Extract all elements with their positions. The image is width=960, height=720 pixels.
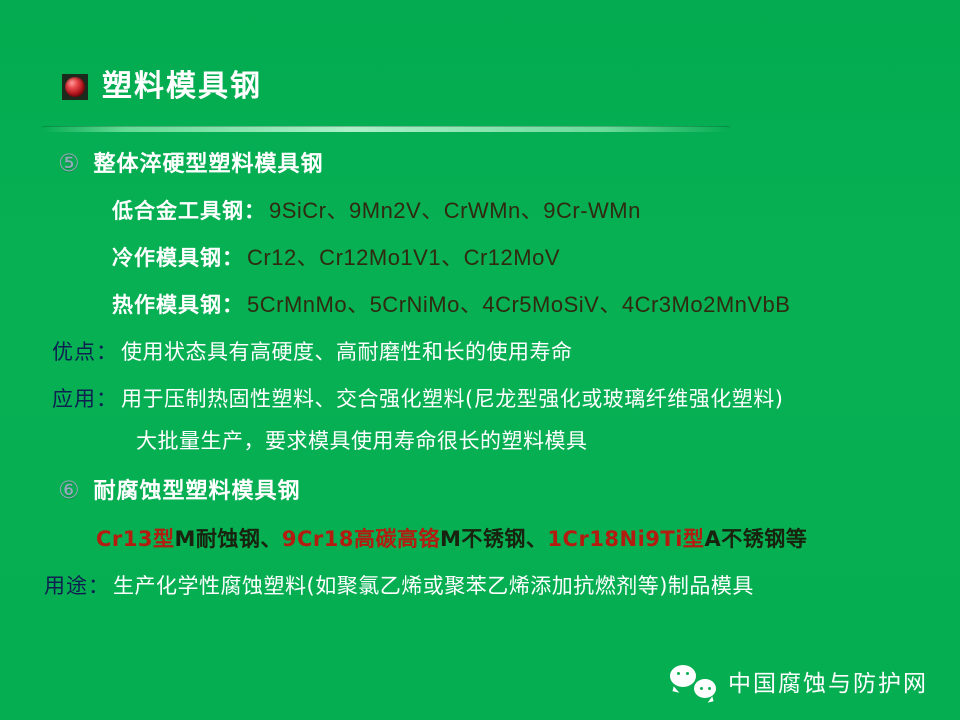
category-colon: ： bbox=[244, 195, 265, 225]
note-row-application-continued: 大批量生产，要求模具使用寿命很长的塑料模具 bbox=[132, 425, 960, 455]
category-colon: ： bbox=[222, 289, 243, 319]
title-divider bbox=[42, 126, 730, 132]
category-grades: 9SiCr、9Mn2V、CrWMn、9Cr-WMn bbox=[269, 193, 641, 225]
wechat-icon bbox=[670, 664, 716, 698]
note-label: 优点 bbox=[52, 336, 96, 366]
category-grades: 5CrMnMo、5CrNiMo、4Cr5MoSiV、4Cr3Mo2MnVbB bbox=[247, 287, 790, 319]
category-grades: Cr12、Cr12Mo1V1、Cr12MoV bbox=[247, 240, 560, 272]
section-heading-5: ⑤ 整体淬硬型塑料模具钢 bbox=[58, 146, 960, 178]
emphasis-steel-grades-line: Cr13型 M耐蚀钢、 9Cr18高碳高铬 M不锈钢、 1Cr18Ni9Ti型 … bbox=[96, 523, 960, 553]
category-label: 冷作模具钢 bbox=[112, 242, 222, 272]
slide-body: ⑤ 整体淬硬型塑料模具钢 低合金工具钢 ： 9SiCr、9Mn2V、CrWMn、… bbox=[0, 142, 960, 600]
note-text: 用于压制热固性塑料、交合强化塑料(尼龙型强化或玻璃纤维强化塑料) bbox=[121, 383, 783, 413]
note-text: 生产化学性腐蚀塑料(如聚氯乙烯或聚苯乙烯添加抗燃剂等)制品模具 bbox=[113, 570, 754, 600]
note-colon: ： bbox=[88, 570, 109, 600]
emphasis-segment: M不锈钢、 bbox=[440, 523, 547, 553]
note-colon: ： bbox=[96, 383, 117, 413]
category-row-low-alloy: 低合金工具钢 ： 9SiCr、9Mn2V、CrWMn、9Cr-WMn bbox=[112, 193, 960, 225]
slide-canvas: 塑料模具钢 ⑤ 整体淬硬型塑料模具钢 低合金工具钢 ： 9SiCr、9Mn2V、… bbox=[0, 0, 960, 720]
note-label: 用途 bbox=[44, 570, 88, 600]
emphasis-segment: 1Cr18Ni9Ti型 bbox=[547, 523, 704, 553]
red-sphere-icon bbox=[62, 74, 88, 100]
note-label: 应用 bbox=[52, 383, 96, 413]
note-text: 大批量生产，要求模具使用寿命很长的塑料模具 bbox=[136, 425, 588, 455]
note-row-usage: 用途 ： 生产化学性腐蚀塑料(如聚氯乙烯或聚苯乙烯添加抗燃剂等)制品模具 bbox=[44, 570, 960, 600]
category-row-hot-work: 热作模具钢 ： 5CrMnMo、5CrNiMo、4Cr5MoSiV、4Cr3Mo… bbox=[112, 287, 960, 319]
emphasis-segment: 9Cr18高碳高铬 bbox=[282, 523, 440, 553]
category-colon: ： bbox=[222, 242, 243, 272]
slide-title-row: 塑料模具钢 bbox=[62, 72, 262, 102]
section-number-5: ⑤ bbox=[58, 151, 80, 175]
note-row-advantages: 优点 ： 使用状态具有高硬度、高耐磨性和长的使用寿命 bbox=[52, 336, 960, 366]
section-number-6: ⑥ bbox=[58, 478, 80, 502]
note-row-application: 应用 ： 用于压制热固性塑料、交合强化塑料(尼龙型强化或玻璃纤维强化塑料) bbox=[52, 383, 960, 413]
emphasis-segment: Cr13型 bbox=[96, 523, 175, 553]
watermark: 中国腐蚀与防护网 bbox=[670, 664, 928, 698]
category-row-cold-work: 冷作模具钢 ： Cr12、Cr12Mo1V1、Cr12MoV bbox=[112, 240, 960, 272]
watermark-text: 中国腐蚀与防护网 bbox=[728, 664, 928, 698]
section-heading-6: ⑥ 耐腐蚀型塑料模具钢 bbox=[58, 473, 960, 505]
page-title: 塑料模具钢 bbox=[102, 72, 262, 102]
category-label: 低合金工具钢 bbox=[112, 195, 244, 225]
note-text: 使用状态具有高硬度、高耐磨性和长的使用寿命 bbox=[121, 336, 573, 366]
emphasis-segment: M耐蚀钢、 bbox=[175, 523, 282, 553]
emphasis-segment: A不锈钢等 bbox=[704, 523, 807, 553]
section-title-6: 耐腐蚀型塑料模具钢 bbox=[94, 473, 301, 505]
section-title-5: 整体淬硬型塑料模具钢 bbox=[94, 146, 324, 178]
category-label: 热作模具钢 bbox=[112, 289, 222, 319]
note-colon: ： bbox=[96, 336, 117, 366]
